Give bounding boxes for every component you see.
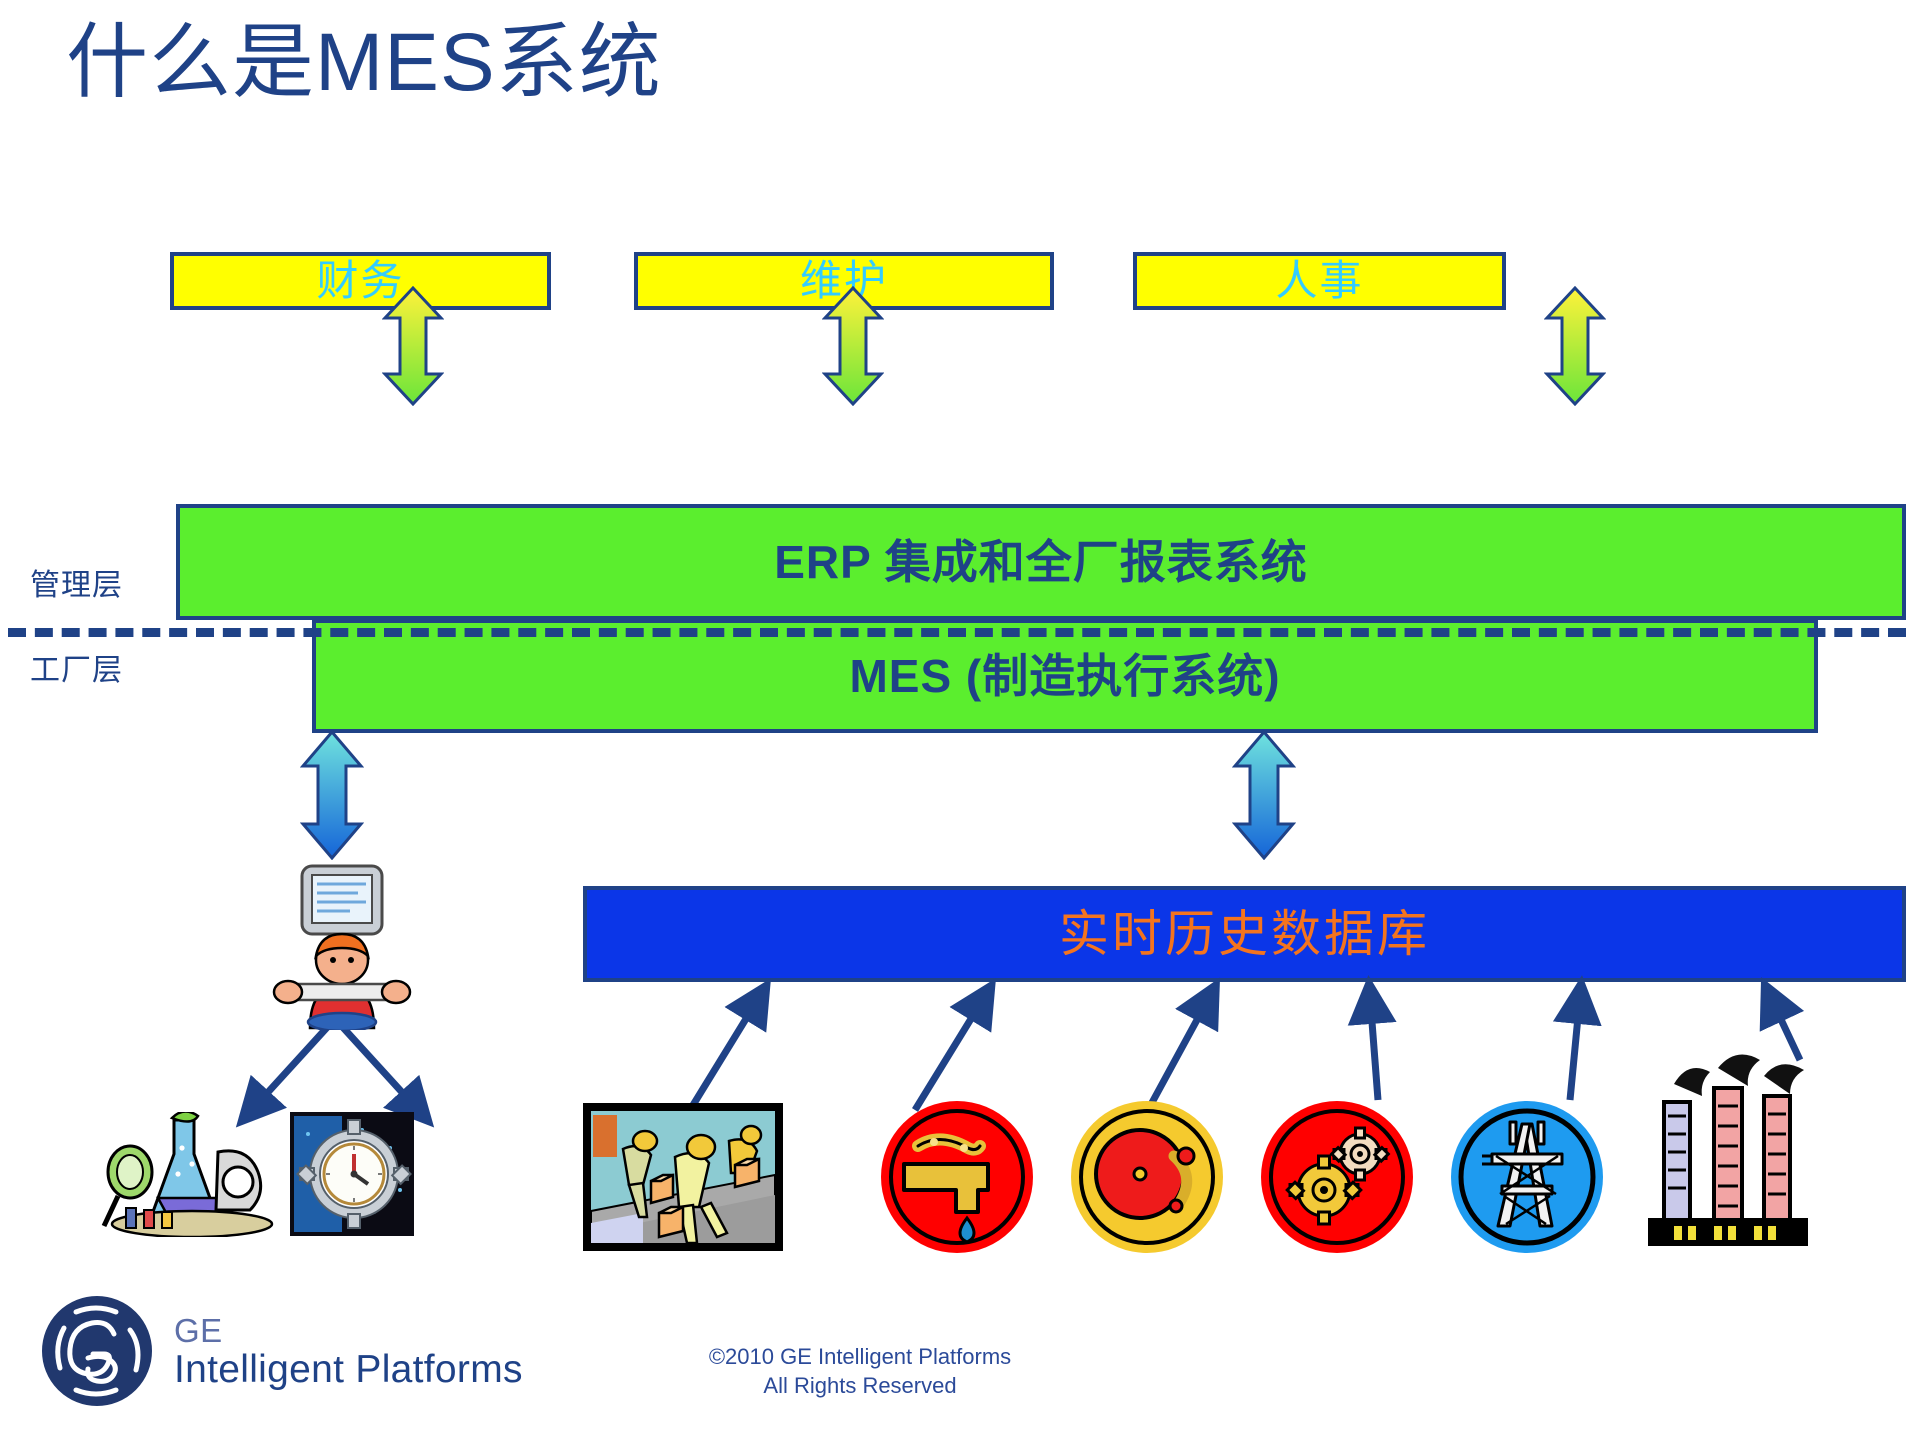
copyright-line-2: All Rights Reserved	[640, 1371, 1080, 1400]
arrow-maintenance-to-erp	[822, 286, 884, 406]
layer-divider	[8, 628, 1906, 637]
layer-label-management: 管理层	[30, 560, 123, 604]
historian-bar-label: 实时历史数据库	[1059, 909, 1430, 959]
erp-bar-label: ERP 集成和全厂报表系统	[774, 539, 1308, 585]
ge-logo-tagline: Intelligent Platforms	[174, 1350, 523, 1389]
power-transmission-tower-icon	[1448, 1098, 1606, 1256]
arrow-finance-to-erp	[382, 286, 444, 406]
factory-smokestacks-icon	[1638, 1050, 1818, 1250]
mes-bar-label: MES (制造执行系统)	[849, 653, 1280, 699]
ge-logo: GE Intelligent Platforms	[36, 1290, 523, 1412]
ge-monogram-icon	[36, 1290, 158, 1412]
dept-box-human-resources[interactable]: 人事	[1133, 252, 1506, 310]
operator-workstation-icon	[262, 860, 422, 1030]
water-faucet-icon	[878, 1098, 1036, 1256]
copyright-line-1: ©2010 GE Intelligent Platforms	[640, 1342, 1080, 1371]
machinery-gears-icon	[1258, 1098, 1416, 1256]
dept-label-human-resources: 人事	[1275, 260, 1363, 302]
clock-gear-icon	[290, 1112, 414, 1236]
production-line-workers-icon	[583, 1103, 783, 1251]
ge-logo-name: GE	[174, 1314, 523, 1347]
copyright-notice: ©2010 GE Intelligent Platforms All Right…	[640, 1342, 1080, 1400]
arrow-mes-to-historian	[1232, 730, 1296, 860]
lab-instruments-icon	[100, 1112, 280, 1237]
erp-bar[interactable]: ERP 集成和全厂报表系统	[176, 504, 1906, 620]
layer-label-plant: 工厂层	[30, 645, 123, 689]
historian-bar[interactable]: 实时历史数据库	[583, 886, 1906, 982]
arrow-hr-to-erp	[1544, 286, 1606, 406]
page-title: 什么是MES系统	[66, 18, 662, 108]
dept-box-finance[interactable]: 财务	[170, 252, 551, 310]
alarm-bell-icon	[1068, 1098, 1226, 1256]
arrow-mes-to-operator	[300, 730, 364, 860]
